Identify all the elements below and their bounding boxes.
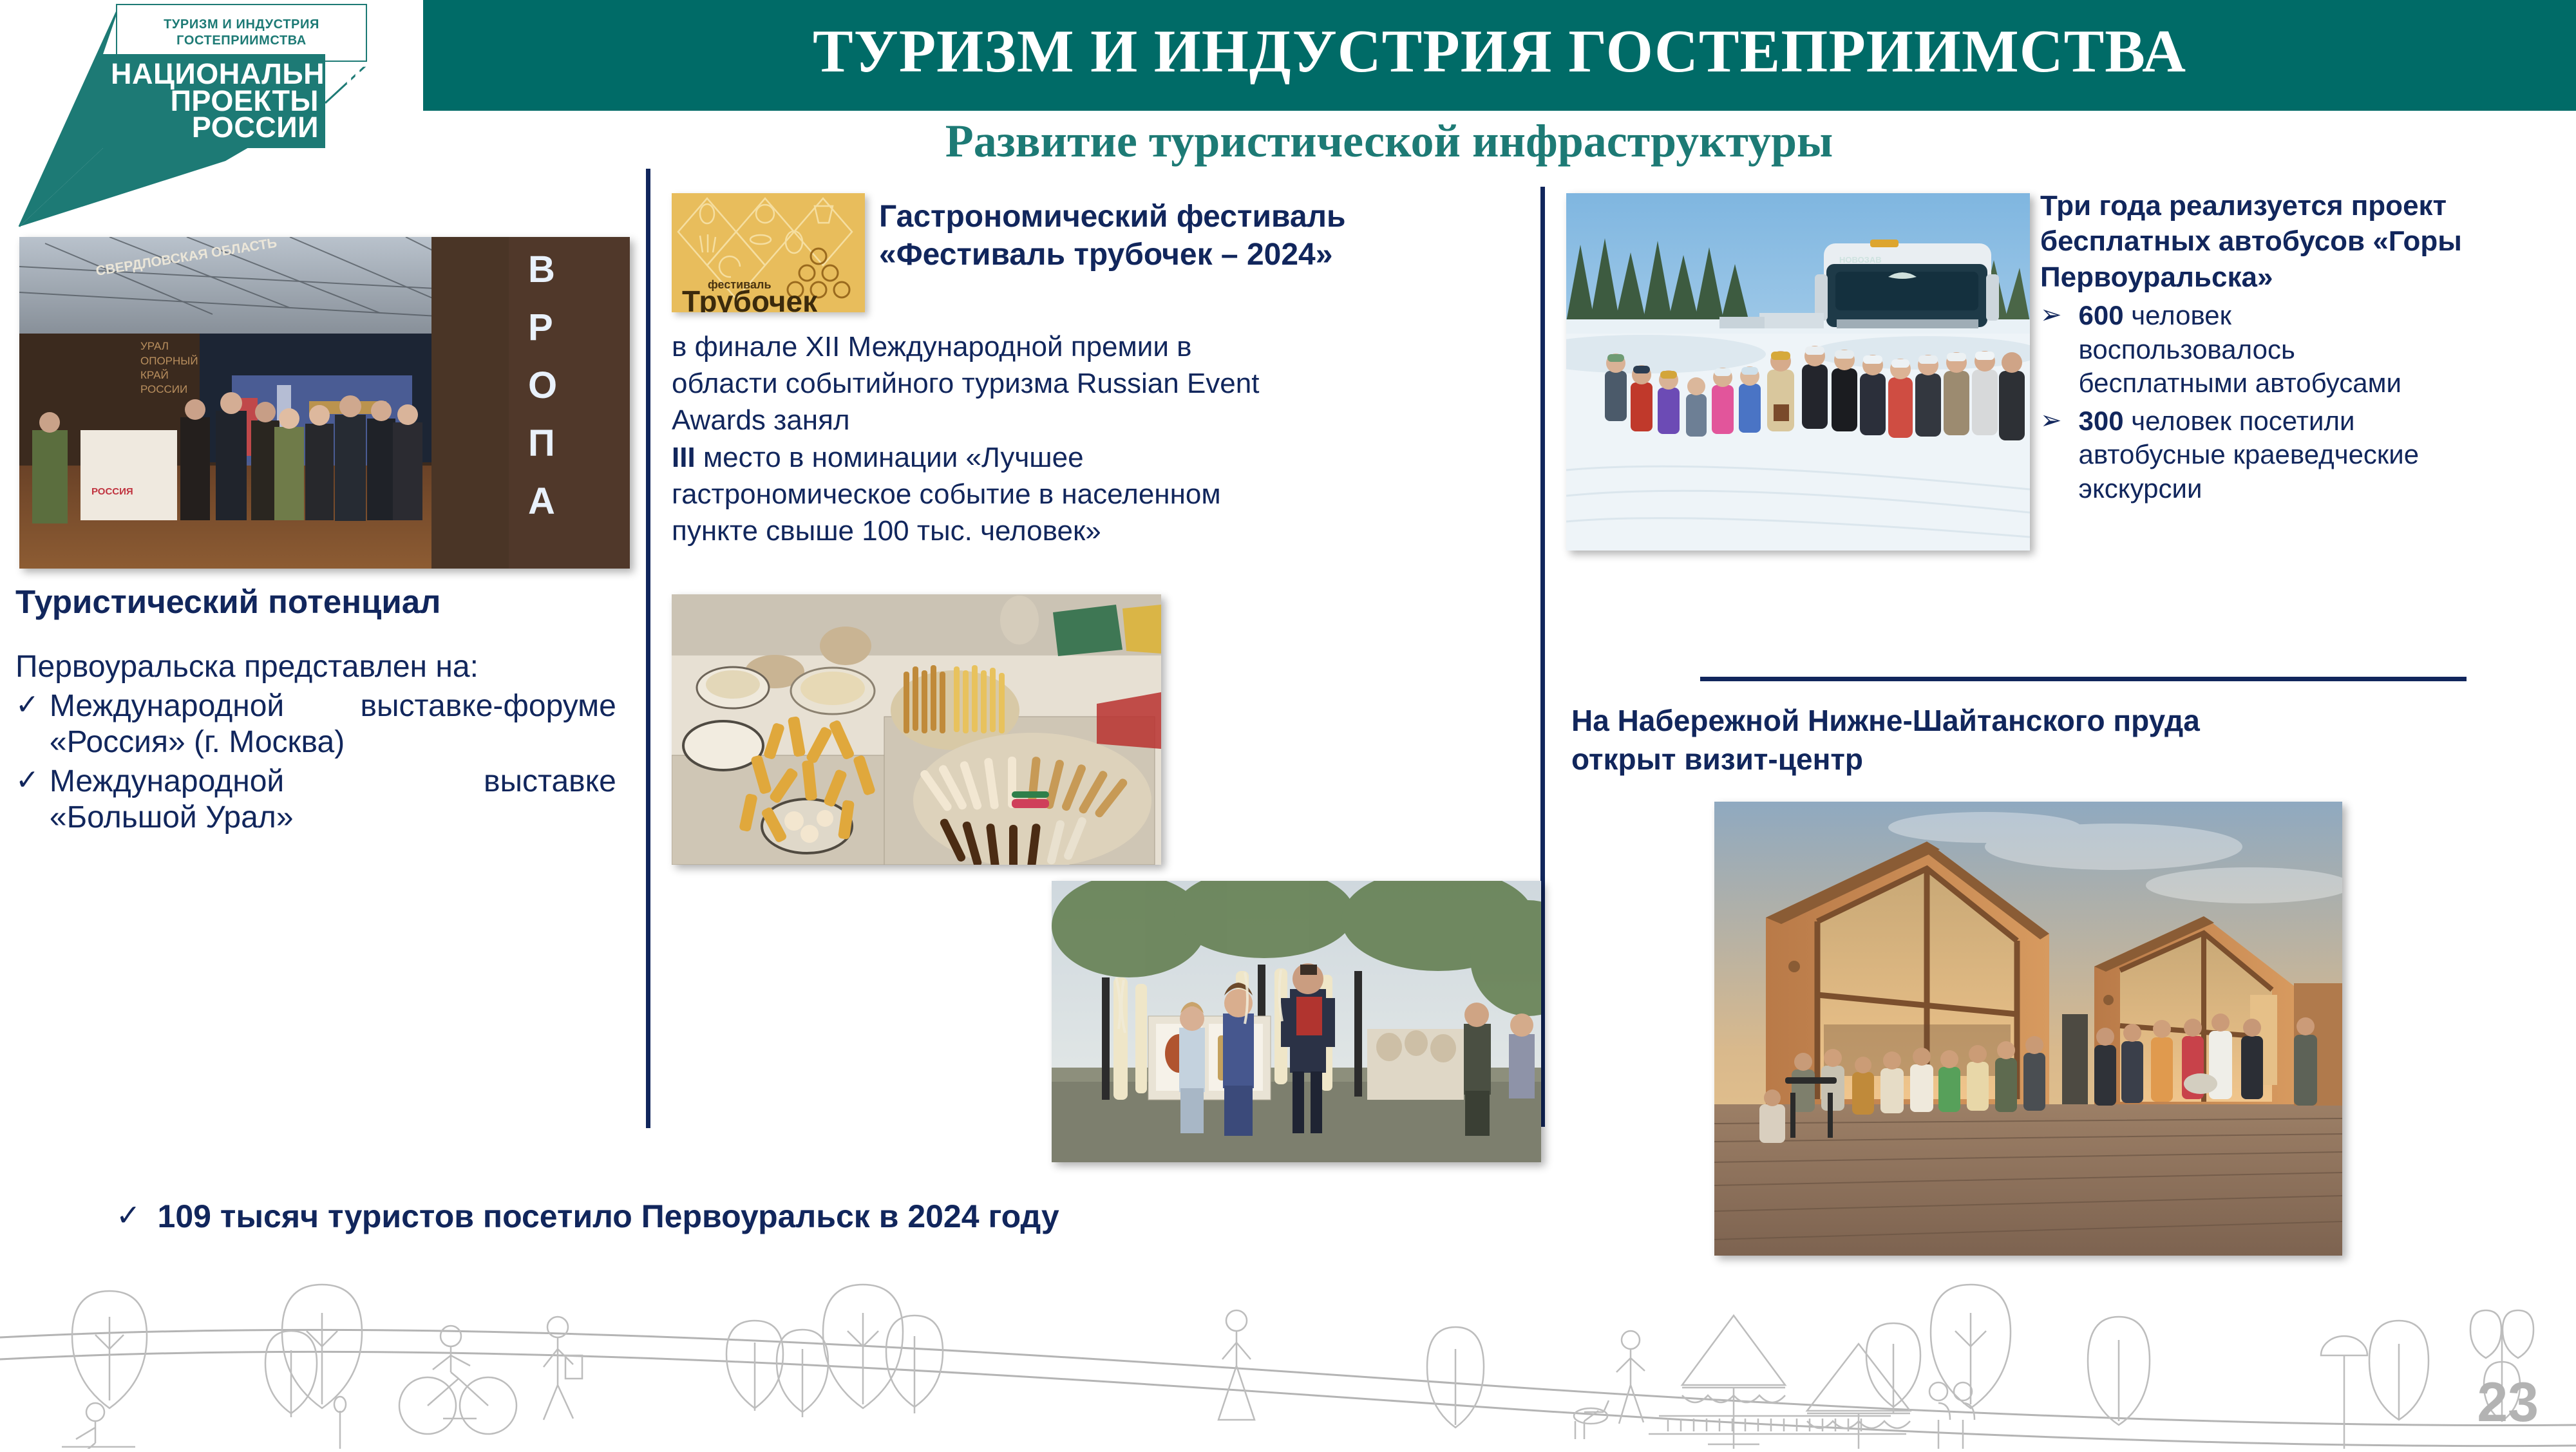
column-divider-left (646, 169, 650, 1128)
free-bus-heading-line2: бесплатных автобусов «Горы (2040, 223, 2576, 259)
tourist-potential-lead: Первоуральска представлен на: (15, 649, 634, 684)
festival-body: в финале XII Международной премии в обла… (672, 328, 1374, 549)
visit-center-rule (1700, 677, 2467, 681)
bullet-text-b: автобусные краеведческие (2079, 438, 2576, 472)
check-icon: ✓ (15, 688, 39, 760)
festival-food-photo (672, 594, 1161, 865)
page-subtitle: Развитие туристической инфраструктуры (423, 115, 2355, 168)
svg-text:НОВОЗАВ: НОВОЗАВ (1839, 255, 1882, 265)
svg-text:А: А (528, 480, 555, 522)
logo-line-1: НАЦИОНАЛЬНЫЕ (111, 61, 319, 87)
festival-food-photo-art (672, 594, 1161, 865)
svg-text:РОССИЯ: РОССИЯ (91, 486, 133, 497)
festival-body-line2: области событийного туризма Russian Even… (672, 365, 1374, 402)
bullet-value: 600 (2079, 300, 2124, 330)
visit-center-photo (1714, 802, 2342, 1256)
festival-place-rest: место в номинации «Лучшее (696, 442, 1084, 473)
festival-body-line1: в финале XII Международной премии в (672, 328, 1374, 365)
visit-center-heading-line2: открыт визит-центр (1571, 740, 2486, 779)
svg-text:В: В (528, 249, 555, 290)
expo-stand-photo: СВЕРДЛОВСКАЯ ОБЛАСТЬ УРАЛОПОРНЫЙ КРАЙРОС… (19, 237, 630, 569)
tourist-potential-block: Туристический потенциал Первоуральска пр… (15, 583, 634, 836)
winter-bus-group-photo-art: НОВОЗАВ (1566, 193, 2030, 551)
check-icon: ✓ (116, 1198, 141, 1232)
festival-body-line3: Awards занял (672, 402, 1374, 438)
tourist-potential-heading: Туристический потенциал (15, 583, 634, 621)
festival-heading-line1: Гастрономический фестиваль (879, 198, 1529, 236)
logo-caption-line1: ТУРИЗМ И ИНДУСТРИЯ (164, 17, 319, 33)
visit-center-heading: На Набережной Нижне-Шайтанского пруда от… (1571, 702, 2486, 779)
list-item-part-c: «Россия» (г. Москва) (50, 724, 634, 760)
list-item-part-b: выставке-форуме (361, 688, 616, 724)
list-item-part-b: выставке (484, 764, 616, 800)
logo-text-block: НАЦИОНАЛЬНЫЕ ПРОЕКТЫ РОССИИ (103, 54, 325, 147)
page-title: ТУРИЗМ И ИНДУСТРИЯ ГОСТЕПРИИМСТВА (423, 17, 2576, 86)
bullet-text-b: воспользовалось (2079, 333, 2576, 367)
expo-stand-photo-art: СВЕРДЛОВСКАЯ ОБЛАСТЬ УРАЛОПОРНЫЙ КРАЙРОС… (19, 237, 630, 569)
festival-body-line6: пункте свыше 100 тыс. человек» (672, 513, 1374, 549)
bullet-text-c: экскурсии (2079, 472, 2576, 506)
festival-heading-line2: «Фестиваль трубочек – 2024» (879, 236, 1529, 274)
park-illustration-band: 23 (0, 1259, 2576, 1449)
festival-logo: фестиваль Трубочек (672, 193, 865, 312)
street-market-photo (1052, 881, 1541, 1162)
free-bus-heading-line1: Три года реализуется проект (2040, 188, 2576, 223)
free-bus-block: Три года реализуется проект бесплатных а… (2040, 188, 2576, 505)
list-item: ✓ Международной выставке-форуме «Россия»… (15, 688, 634, 760)
svg-text:РОССИИ: РОССИИ (140, 383, 187, 395)
tourist-count-text: 109 тысяч туристов посетило Первоуральск… (158, 1198, 1059, 1235)
festival-body-line4: III место в номинации «Лучшее (672, 439, 1374, 476)
svg-text:УРАЛ: УРАЛ (140, 340, 169, 352)
festival-heading: Гастрономический фестиваль «Фестиваль тр… (879, 198, 1529, 274)
arrow-bullet-icon: ➢ (2040, 299, 2062, 401)
list-item: ➢ 600 человек воспользовалось бесплатным… (2040, 299, 2576, 401)
list-item-part-c: «Большой Урал» (50, 800, 634, 836)
park-illustration-art (0, 1259, 2576, 1449)
bullet-text-a: человек посетили (2124, 406, 2355, 436)
svg-text:КРАЙ: КРАЙ (140, 369, 169, 381)
visit-center-heading-line1: На Набережной Нижне-Шайтанского пруда (1571, 702, 2486, 740)
free-bus-heading: Три года реализуется проект бесплатных а… (2040, 188, 2576, 295)
arrow-bullet-icon: ➢ (2040, 404, 2062, 506)
visit-center-photo-art (1714, 802, 2342, 1256)
winter-bus-group-photo: НОВОЗАВ (1566, 193, 2030, 551)
logo-line-2: ПРОЕКТЫ (111, 88, 319, 114)
list-item: ✓ Международной выставке «Большой Урал» (15, 764, 634, 835)
svg-text:ОПОРНЫЙ: ОПОРНЫЙ (140, 355, 198, 367)
tourist-count-note: ✓ 109 тысяч туристов посетило Первоураль… (116, 1198, 1340, 1235)
list-item-part-a: Международной (50, 764, 284, 800)
list-item: ➢ 300 человек посетили автобусные краеве… (2040, 404, 2576, 506)
check-icon: ✓ (15, 764, 39, 835)
column-divider-right (1540, 187, 1545, 1127)
svg-text:П: П (528, 422, 555, 464)
festival-body-line5: гастрономическое событие в населенном (672, 476, 1374, 513)
festival-place-value: III (672, 442, 696, 473)
svg-text:О: О (528, 364, 557, 406)
free-bus-heading-line3: Первоуральска» (2040, 259, 2576, 295)
bullet-value: 300 (2079, 406, 2124, 436)
bullet-text-c: бесплатными автобусами (2079, 366, 2576, 401)
logo-caption-box: ТУРИЗМ И ИНДУСТРИЯ ГОСТЕПРИИМСТВА (116, 4, 367, 62)
festival-logo-art: фестиваль Трубочек (672, 193, 865, 312)
bullet-text-a: человек (2124, 300, 2231, 330)
festival-logo-main-text: Трубочек (682, 285, 818, 312)
page-number: 23 (2477, 1371, 2539, 1435)
svg-text:Р: Р (528, 306, 553, 348)
list-item-part-a: Международной (50, 688, 284, 724)
logo-caption-line2: ГОСТЕПРИИМСТВА (176, 33, 307, 49)
national-projects-logo: ТУРИЗМ И ИНДУСТРИЯ ГОСТЕПРИИМСТВА НАЦИОН… (0, 0, 425, 232)
logo-line-3: РОССИИ (111, 114, 319, 140)
street-market-photo-art (1052, 881, 1541, 1162)
